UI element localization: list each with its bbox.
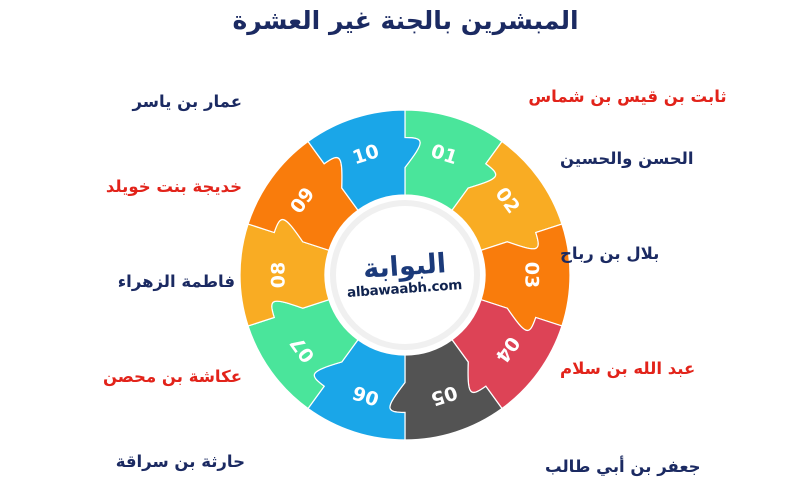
label-10: عمار بن ياسر xyxy=(10,93,242,111)
label-03: بلال بن رباح xyxy=(560,245,805,263)
label-06: حارثة بن سراقة xyxy=(10,453,245,471)
infographic-canvas: المبشرين بالجنة غير العشرة 0102030405060… xyxy=(0,0,811,504)
label-07: عكاشة بن محصن xyxy=(10,368,242,386)
label-04: عبد الله بن سلام xyxy=(560,360,805,378)
center-logo: البوابة albawaabh.com xyxy=(330,200,480,350)
puzzle-wheel: 01020304050607080910 البوابة albawaabh.c… xyxy=(240,110,570,440)
label-09: خديجة بنت خويلد xyxy=(10,178,242,196)
label-08: فاطمة الزهراء xyxy=(0,273,235,291)
label-05: جعفر بن أبي طالب xyxy=(545,458,805,476)
label-01: ثابت بن قيس بن شماس xyxy=(450,88,805,106)
label-02: الحسن والحسين xyxy=(560,150,805,168)
segment-number-08: 08 xyxy=(268,262,290,288)
page-title: المبشرين بالجنة غير العشرة xyxy=(0,6,811,35)
segment-number-03: 03 xyxy=(521,262,543,288)
